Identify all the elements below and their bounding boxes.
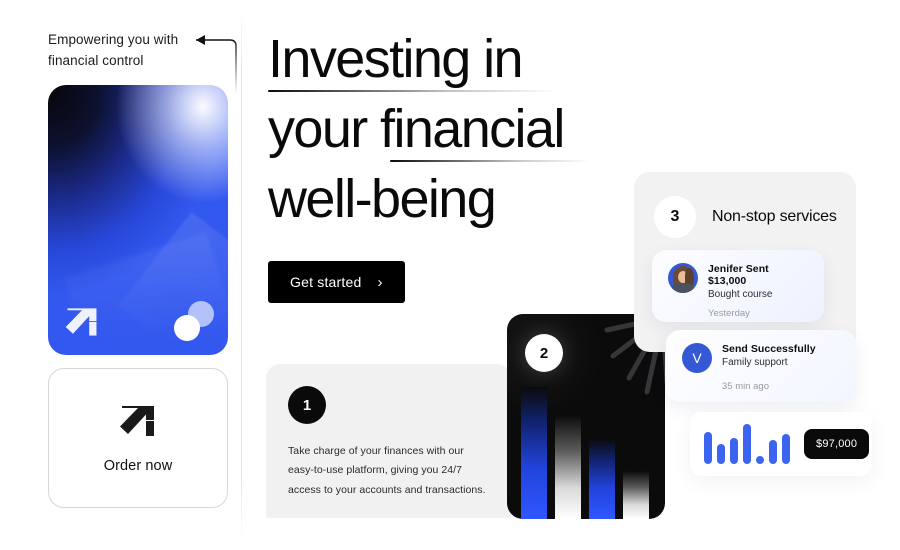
notification-card[interactable]: V Send Successfully Family support 35 mi… [666, 330, 856, 402]
headline-line-1: Investing in [268, 22, 648, 92]
page-title: Investing in your financial well-being [268, 22, 648, 236]
notification-card[interactable]: Jenifer Sent $13,000 Bought course Yeste… [652, 250, 824, 322]
step-2-bar [589, 439, 615, 519]
balance-chart-card: $97,000 [690, 412, 872, 476]
user-photo-avatar [668, 263, 698, 293]
notification-title: Jenifer Sent $13,000 [708, 263, 808, 287]
mini-bar [704, 432, 712, 464]
mini-bar [730, 438, 738, 464]
landing-page: Empowering you with financial control [0, 0, 900, 550]
notification-subtitle: Family support [722, 357, 816, 368]
step-2-bar [623, 471, 649, 519]
amount-badge: $97,000 [804, 429, 869, 459]
services-panel-header: 3 Non-stop services [654, 196, 837, 238]
step-3-badge: 3 [654, 196, 696, 238]
services-panel-title: Non-stop services [712, 208, 837, 226]
order-now-card[interactable]: Order now [48, 368, 228, 508]
step-1-badge: 1 [288, 386, 326, 424]
overlapping-circles-icon [174, 301, 214, 341]
headline-text-2: your financial [268, 92, 648, 166]
notification-subtitle: Bought course [708, 289, 808, 300]
get-started-label: Get started [290, 274, 361, 290]
mini-bar [782, 434, 790, 464]
gradient-bank-card [48, 85, 228, 355]
mini-bar [743, 424, 751, 464]
step-2-bars [521, 379, 657, 519]
arrow-up-right-logo-icon [116, 402, 160, 444]
headline-text-1: Investing in [268, 22, 648, 96]
notification-title: Send Successfully [722, 343, 816, 355]
order-now-label: Order now [104, 458, 173, 474]
tagline: Empowering you with financial control [48, 30, 208, 72]
step-1-card: 1 Take charge of your finances with our … [266, 364, 511, 518]
mini-bar [756, 456, 764, 464]
notification-time: 35 min ago [722, 381, 840, 392]
vertical-divider [241, 8, 242, 542]
step-2-bar [521, 387, 547, 519]
curved-arrow-icon [186, 24, 244, 94]
mini-bar [717, 444, 725, 464]
letter-avatar: V [682, 343, 712, 373]
headline-line-3: well-being [268, 162, 648, 236]
headline-line-2: your financial [268, 92, 648, 162]
step-2-badge: 2 [525, 334, 563, 372]
arrow-up-right-logo-icon [62, 303, 102, 341]
notification-time: Yesterday [708, 308, 808, 319]
chevron-right-icon: › [377, 275, 382, 290]
step-2-bar [555, 415, 581, 519]
mini-bar [769, 440, 777, 464]
headline-text-3: well-being [268, 162, 648, 236]
mini-bar-chart [704, 424, 790, 464]
step-1-text: Take charge of your finances with our ea… [288, 442, 489, 500]
get-started-button[interactable]: Get started › [268, 261, 405, 303]
